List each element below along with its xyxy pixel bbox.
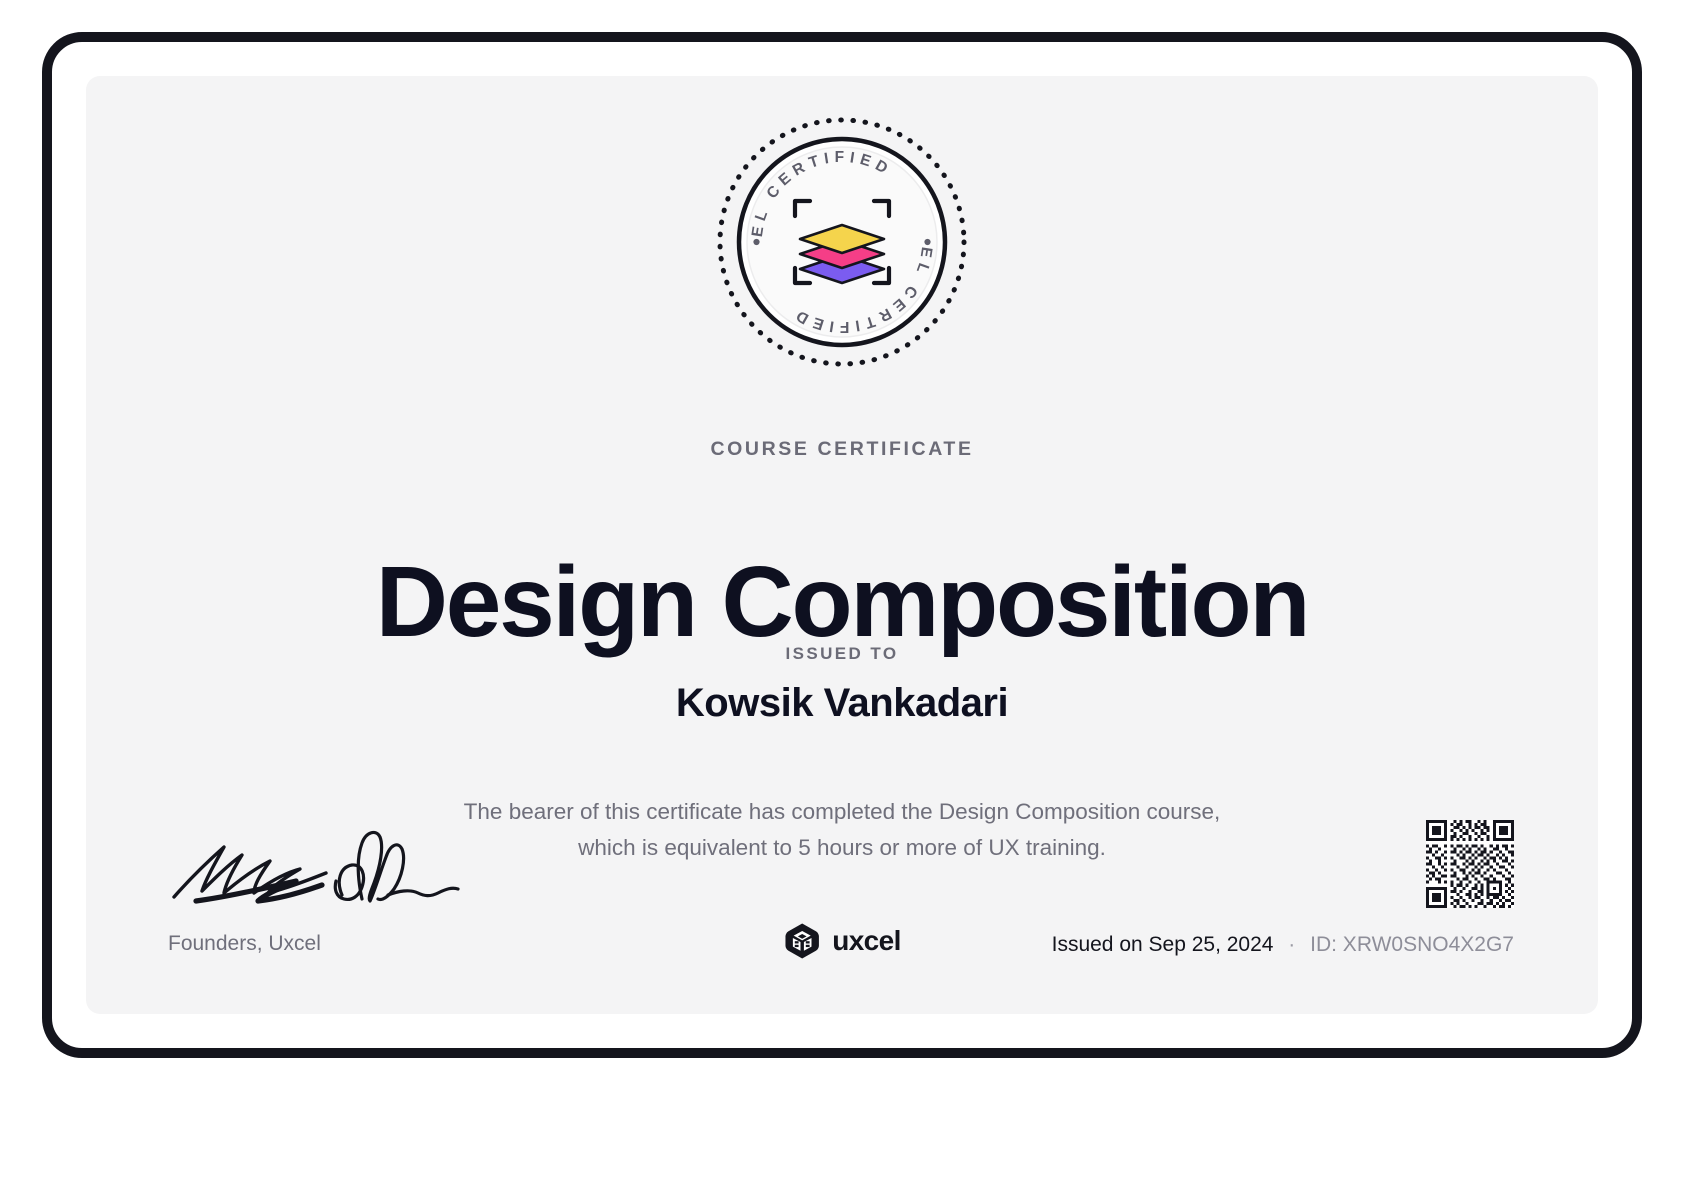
certificate-body: UXCEL CERTIFIED UXCEL CERTIFIED <box>86 76 1598 1014</box>
seal-layers-glyph <box>800 225 884 283</box>
issued-to-label: ISSUED TO <box>86 644 1598 664</box>
certificate-eyebrow: COURSE CERTIFICATE <box>86 438 1598 461</box>
founders-label: Founders, Uxcel <box>168 932 321 956</box>
certificate-frame: UXCEL CERTIFIED UXCEL CERTIFIED <box>42 32 1642 1058</box>
founder-signatures <box>166 819 466 909</box>
uxcel-brand-lockup: uxcel <box>783 922 901 960</box>
seal-bullet-right <box>924 239 930 245</box>
uxcel-logo-icon <box>783 922 821 960</box>
certificate-id: ID: XRW0SNO4X2G7 <box>1310 933 1514 956</box>
qr-code-icon <box>1426 820 1514 908</box>
signature-icon <box>166 819 466 909</box>
seal-icon: UXCEL CERTIFIED UXCEL CERTIFIED <box>713 113 971 371</box>
recipient-name: Kowsik Vankadari <box>86 681 1598 726</box>
issue-info-separator: · <box>1288 933 1295 956</box>
issue-info: Issued on Sep 25, 2024 · ID: XRW0SNO4X2G… <box>1052 933 1514 957</box>
uxcel-wordmark: uxcel <box>832 925 901 957</box>
issued-on-date: Issued on Sep 25, 2024 <box>1052 933 1274 956</box>
certificate-qr-code[interactable] <box>1426 820 1514 908</box>
uxcel-certified-seal: UXCEL CERTIFIED UXCEL CERTIFIED <box>713 113 971 371</box>
seal-bullet-left <box>753 239 759 245</box>
